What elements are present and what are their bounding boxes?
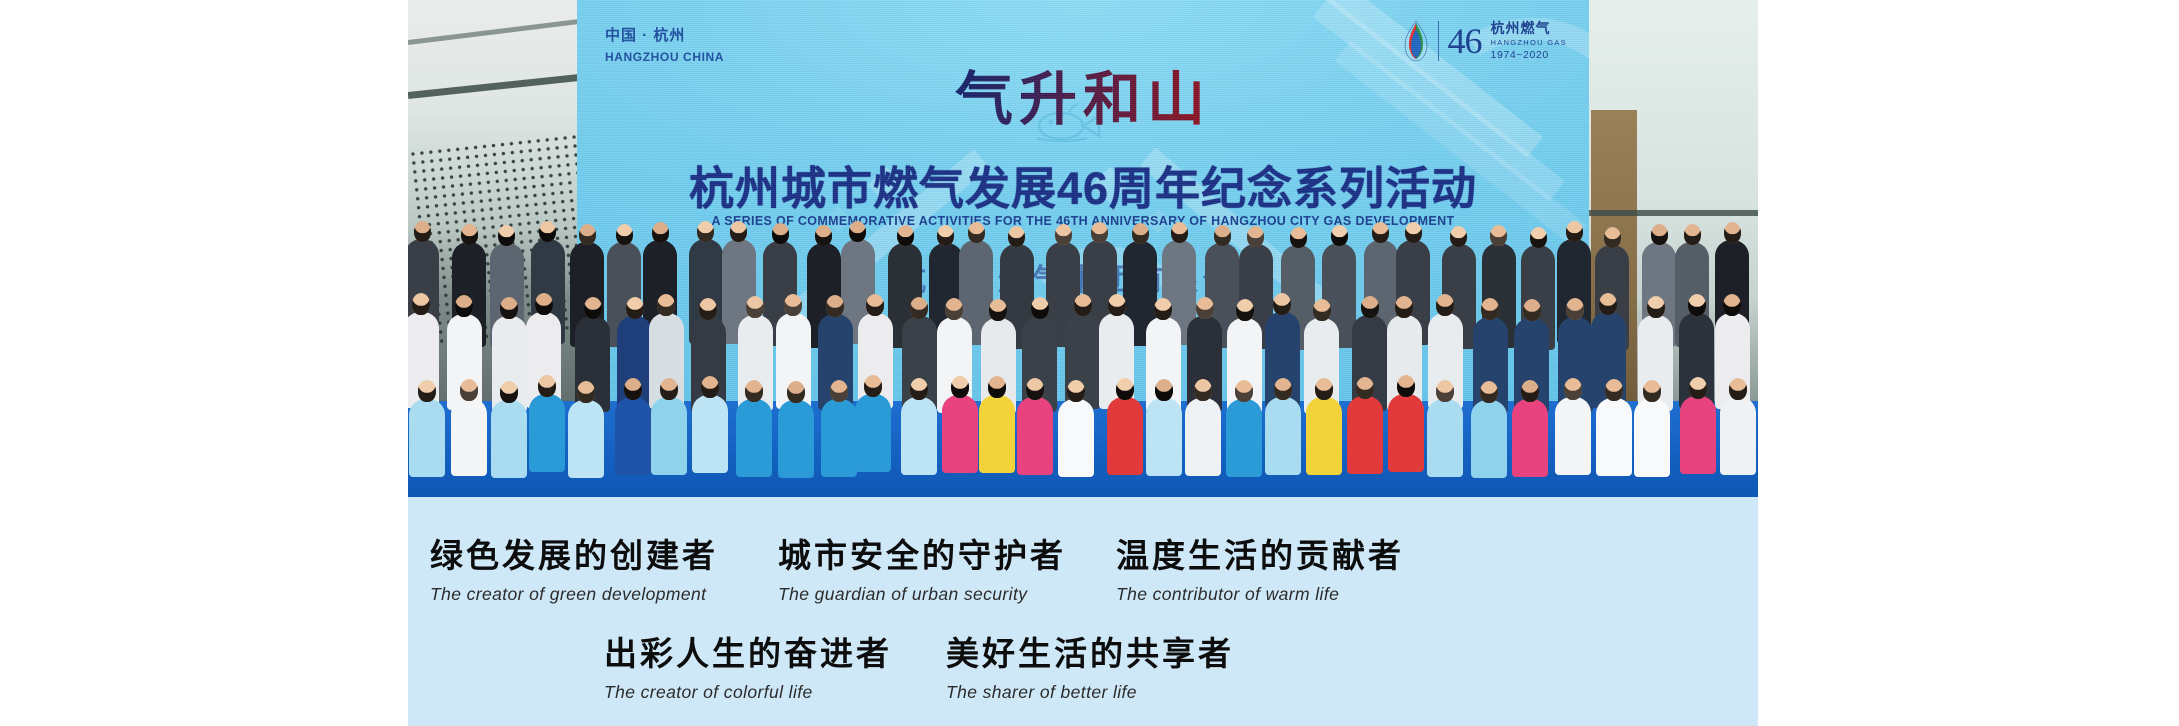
slogan-1-cn: 绿色发展的创建者 bbox=[430, 529, 718, 577]
person-head bbox=[660, 378, 678, 400]
person bbox=[736, 377, 772, 477]
person bbox=[1596, 376, 1632, 476]
person bbox=[1634, 377, 1670, 477]
person-torso bbox=[1596, 398, 1632, 476]
person-head bbox=[1236, 299, 1254, 321]
person-head bbox=[1684, 224, 1701, 245]
person-torso bbox=[855, 394, 891, 472]
person-torso bbox=[692, 395, 728, 473]
person bbox=[692, 373, 728, 473]
person bbox=[1512, 377, 1548, 477]
person-torso bbox=[529, 394, 565, 472]
person bbox=[1185, 376, 1221, 476]
person-torso bbox=[1555, 397, 1591, 475]
slogan-item-3: 温度生活的贡献者 The contributor of warm life bbox=[1116, 529, 1404, 605]
person-torso bbox=[901, 397, 937, 475]
person-torso bbox=[1185, 398, 1221, 476]
person-head bbox=[500, 381, 518, 403]
person-head bbox=[951, 376, 969, 398]
person-head bbox=[910, 378, 928, 400]
person-head bbox=[701, 376, 719, 398]
person-head bbox=[910, 297, 928, 319]
person-torso bbox=[1146, 398, 1182, 476]
person bbox=[1347, 374, 1383, 474]
person-head bbox=[1397, 375, 1415, 397]
person bbox=[651, 375, 687, 475]
person-head bbox=[1331, 225, 1348, 246]
person-head bbox=[1356, 377, 1374, 399]
person bbox=[1427, 377, 1463, 477]
person-head bbox=[1480, 381, 1498, 403]
logo-name-cn: 杭州燃气 bbox=[1491, 20, 1567, 38]
person-head bbox=[1405, 222, 1422, 243]
screenshot-root: 中国 · 杭州 HANGZHOU CHINA 46 杭州燃气 H bbox=[0, 0, 2179, 726]
slogan-4-en: The creator of colorful life bbox=[604, 682, 892, 703]
person bbox=[1680, 374, 1716, 474]
person-head bbox=[414, 221, 431, 242]
slogan-1-en: The creator of green development bbox=[430, 584, 718, 605]
person bbox=[1017, 375, 1053, 475]
person-torso bbox=[1306, 397, 1342, 475]
person-torso bbox=[409, 399, 445, 477]
person bbox=[491, 378, 527, 478]
person-head bbox=[1026, 378, 1044, 400]
person bbox=[778, 378, 814, 478]
person-torso bbox=[615, 397, 651, 475]
person-head bbox=[697, 221, 714, 242]
person-head bbox=[1599, 293, 1617, 315]
person bbox=[1107, 375, 1143, 475]
person-head bbox=[577, 381, 595, 403]
person-head bbox=[1132, 223, 1149, 244]
person bbox=[979, 373, 1015, 473]
person-torso bbox=[1720, 397, 1756, 475]
person-torso bbox=[1427, 399, 1463, 477]
person-torso bbox=[1347, 396, 1383, 474]
person-torso bbox=[979, 395, 1015, 473]
person-torso bbox=[821, 399, 857, 477]
person-torso bbox=[1226, 399, 1262, 477]
person-head bbox=[1247, 226, 1264, 247]
person bbox=[568, 378, 604, 478]
content-column: 中国 · 杭州 HANGZHOU CHINA 46 杭州燃气 H bbox=[408, 0, 1758, 726]
slogan-2-en: The guardian of urban security bbox=[778, 584, 1066, 605]
logo-name-en: HANGZHOU GAS bbox=[1491, 38, 1567, 47]
person-torso bbox=[1017, 397, 1053, 475]
person-head bbox=[988, 376, 1006, 398]
person-head bbox=[1290, 227, 1307, 248]
person-torso bbox=[942, 395, 978, 473]
person-head bbox=[1116, 378, 1134, 400]
person-torso bbox=[651, 397, 687, 475]
person-head bbox=[1274, 378, 1292, 400]
person-head bbox=[1395, 296, 1413, 318]
person-head bbox=[1530, 227, 1547, 248]
person-head bbox=[1605, 379, 1623, 401]
person-head bbox=[579, 224, 596, 245]
slogan-5-cn: 美好生活的共享者 bbox=[946, 627, 1234, 675]
person-head bbox=[1450, 226, 1467, 247]
location-cn: 中国 · 杭州 bbox=[605, 26, 724, 46]
person-head bbox=[745, 380, 763, 402]
person-head bbox=[1155, 379, 1173, 401]
person-head bbox=[1214, 225, 1231, 246]
person-head bbox=[1273, 293, 1291, 315]
person bbox=[1306, 375, 1342, 475]
person-head bbox=[1523, 299, 1541, 321]
person-head bbox=[849, 221, 866, 242]
person bbox=[1058, 377, 1094, 477]
person-head bbox=[1647, 296, 1665, 318]
person bbox=[615, 375, 651, 475]
person-torso bbox=[1265, 397, 1301, 475]
person-head bbox=[830, 380, 848, 402]
person-head bbox=[1436, 380, 1454, 402]
person-head bbox=[498, 225, 515, 246]
person-head bbox=[772, 223, 789, 244]
person-head bbox=[1235, 380, 1253, 402]
person-torso bbox=[1107, 397, 1143, 475]
person-torso bbox=[778, 400, 814, 478]
person-head bbox=[1490, 225, 1507, 246]
slogan-item-5: 美好生活的共享者 The sharer of better life bbox=[946, 627, 1234, 703]
person-head bbox=[1108, 294, 1126, 316]
person-torso bbox=[736, 399, 772, 477]
person-head bbox=[1481, 298, 1499, 320]
person bbox=[529, 372, 565, 472]
person-head bbox=[584, 297, 602, 319]
person-head bbox=[1055, 224, 1072, 245]
person bbox=[855, 372, 891, 472]
person-torso bbox=[1680, 396, 1716, 474]
person-head bbox=[535, 293, 553, 315]
person-head bbox=[1724, 222, 1741, 243]
person-head bbox=[1067, 380, 1085, 402]
person-head bbox=[500, 297, 518, 319]
person-head bbox=[989, 299, 1007, 321]
person-head bbox=[1031, 297, 1049, 319]
person-head bbox=[1689, 377, 1707, 399]
person bbox=[942, 373, 978, 473]
person-head bbox=[1521, 380, 1539, 402]
person-head bbox=[968, 222, 985, 243]
slogan-4-cn: 出彩人生的奋进者 bbox=[604, 627, 892, 675]
person-head bbox=[460, 379, 478, 401]
person-head bbox=[1372, 222, 1389, 243]
person-head bbox=[1604, 227, 1621, 248]
person-head bbox=[539, 221, 556, 242]
person-head bbox=[652, 222, 669, 243]
person-head bbox=[1723, 294, 1741, 316]
person-head bbox=[746, 296, 764, 318]
person-torso bbox=[1512, 399, 1548, 477]
person-torso bbox=[491, 400, 527, 478]
slogan-panel: 绿色发展的创建者 The creator of green developmen… bbox=[408, 497, 1758, 726]
person bbox=[1146, 376, 1182, 476]
person-head bbox=[1315, 378, 1333, 400]
person-torso bbox=[451, 398, 487, 476]
person-head bbox=[1643, 380, 1661, 402]
person bbox=[1471, 378, 1507, 478]
slogan-5-en: The sharer of better life bbox=[946, 682, 1234, 703]
person-head bbox=[1651, 224, 1668, 245]
person-head bbox=[787, 381, 805, 403]
person bbox=[1226, 377, 1262, 477]
person-torso bbox=[1058, 399, 1094, 477]
person bbox=[409, 377, 445, 477]
person-head bbox=[1074, 294, 1092, 316]
person-head bbox=[864, 375, 882, 397]
person-head bbox=[1091, 222, 1108, 243]
slogan-item-2: 城市安全的守护者 The guardian of urban security bbox=[778, 529, 1066, 605]
slogan-item-4: 出彩人生的奋进者 The creator of colorful life bbox=[604, 627, 892, 703]
slogan-3-en: The contributor of warm life bbox=[1116, 584, 1404, 605]
person-head bbox=[1171, 222, 1188, 243]
person-head bbox=[616, 224, 633, 245]
person-head bbox=[626, 297, 644, 319]
person-head bbox=[699, 298, 717, 320]
slogan-3-cn: 温度生活的贡献者 bbox=[1116, 529, 1404, 577]
person-head bbox=[784, 294, 802, 316]
person-head bbox=[1361, 296, 1379, 318]
event-group-photo: 中国 · 杭州 HANGZHOU CHINA 46 杭州燃气 H bbox=[408, 0, 1758, 497]
person-head bbox=[455, 295, 473, 317]
person bbox=[821, 377, 857, 477]
person-head bbox=[945, 298, 963, 320]
person-head bbox=[1154, 298, 1172, 320]
crowd-group bbox=[408, 177, 1758, 497]
person-head bbox=[1194, 379, 1212, 401]
person-head bbox=[461, 224, 478, 245]
person-head bbox=[730, 221, 747, 242]
person-head bbox=[1564, 378, 1582, 400]
person-torso bbox=[568, 400, 604, 478]
slogan-item-1: 绿色发展的创建者 The creator of green developmen… bbox=[430, 529, 718, 605]
person-head bbox=[624, 378, 642, 400]
person-head bbox=[1196, 297, 1214, 319]
person-head bbox=[897, 225, 914, 246]
person bbox=[1388, 372, 1424, 472]
person bbox=[1720, 375, 1756, 475]
person bbox=[451, 376, 487, 476]
person-head bbox=[1688, 294, 1706, 316]
person-head bbox=[826, 295, 844, 317]
person bbox=[1555, 375, 1591, 475]
person-head bbox=[538, 375, 556, 397]
slogan-2-cn: 城市安全的守护者 bbox=[778, 529, 1066, 577]
person-head bbox=[1566, 221, 1583, 242]
person bbox=[901, 375, 937, 475]
person-head bbox=[1436, 294, 1454, 316]
person bbox=[1265, 375, 1301, 475]
person-head bbox=[866, 294, 884, 316]
artistic-logo-text: 气升和山 bbox=[577, 52, 1589, 136]
person-torso bbox=[1471, 400, 1507, 478]
person-torso bbox=[1388, 394, 1424, 472]
person-torso bbox=[1634, 399, 1670, 477]
person-head bbox=[1729, 378, 1747, 400]
person-head bbox=[418, 380, 436, 402]
person-head bbox=[657, 294, 675, 316]
person-head bbox=[815, 225, 832, 246]
person-head bbox=[1313, 299, 1331, 321]
